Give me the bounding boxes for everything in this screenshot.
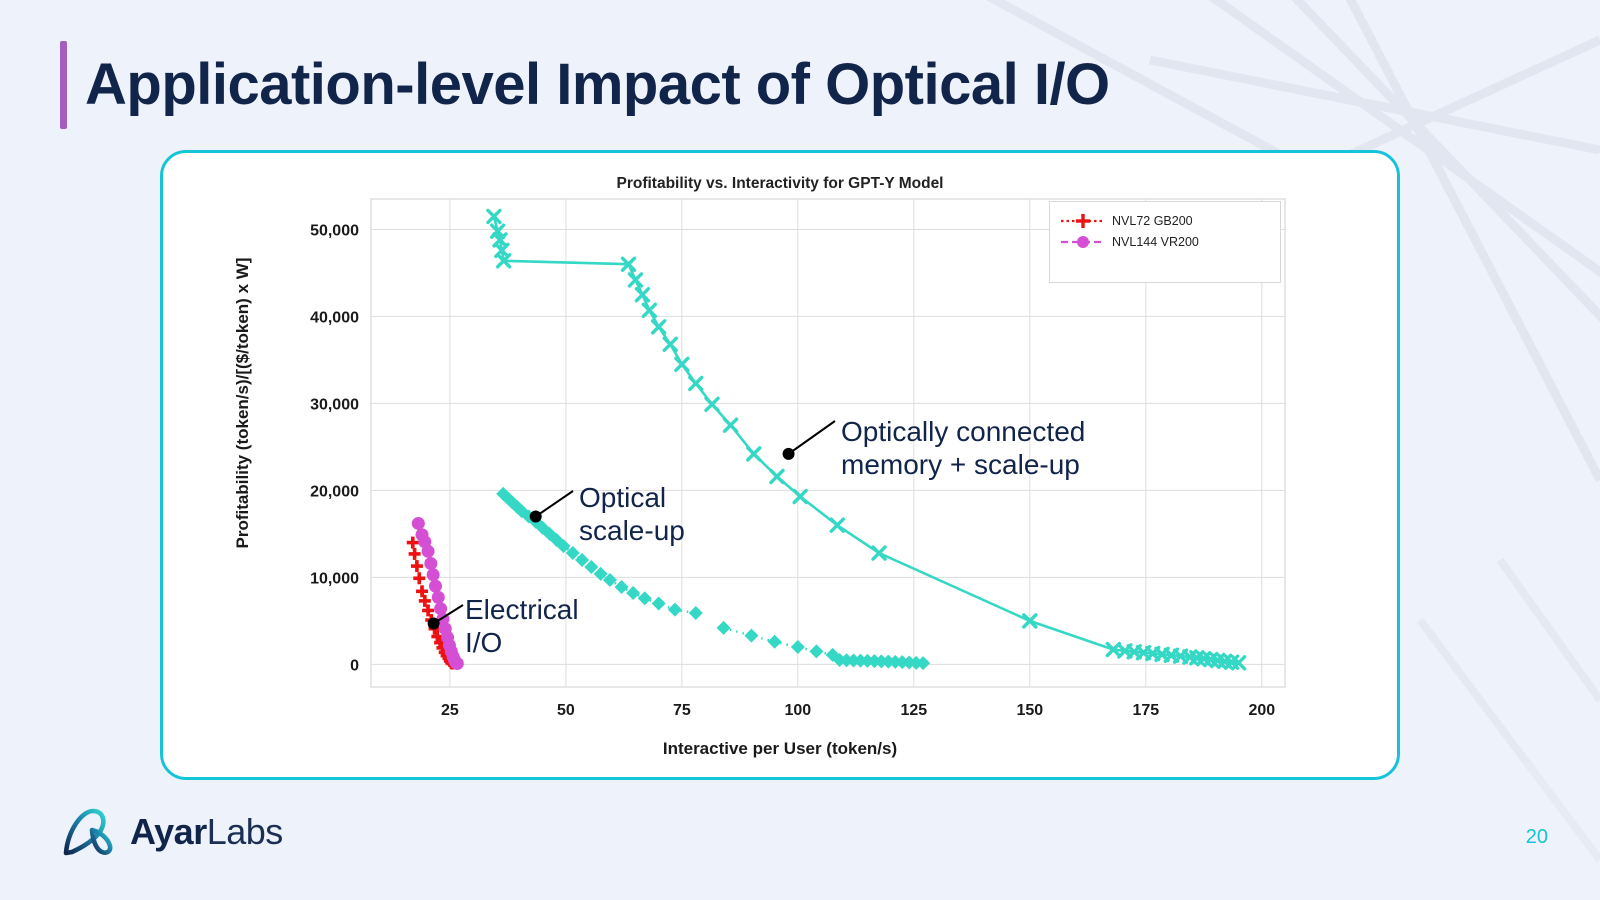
title-accent-bar [60, 41, 67, 129]
slide-header: Application-level Impact of Optical I/O [60, 40, 1110, 130]
chart-container: Profitability vs. Interactivity for GPT-… [163, 153, 1397, 777]
annotation-optically-connected: Optically connected memory + scale-up [841, 415, 1085, 481]
annotation-electrical-io: Electrical I/O [465, 593, 579, 659]
svg-text:50,000: 50,000 [310, 222, 359, 239]
brand-name-bold: Ayar [130, 811, 207, 852]
svg-text:150: 150 [1016, 702, 1043, 719]
legend-item[interactable]: NVL144 VR200 [1060, 231, 1270, 252]
svg-text:50: 50 [557, 702, 575, 719]
brand-name-light: Labs [207, 811, 283, 852]
svg-text:0: 0 [350, 657, 359, 674]
annotation-optical-scale-up: Optical scale-up [579, 481, 685, 547]
svg-text:125: 125 [900, 702, 927, 719]
svg-text:30,000: 30,000 [310, 396, 359, 413]
brand-logo: AyarLabs [62, 808, 283, 856]
chart-card: Profitability vs. Interactivity for GPT-… [160, 150, 1400, 780]
ayarlabs-wing-mark-icon [62, 808, 120, 856]
y-axis-label: Profitability (token/s)/[($/token) x W] [233, 193, 253, 613]
page-title: Application-level Impact of Optical I/O [85, 56, 1110, 114]
svg-text:25: 25 [441, 702, 459, 719]
legend-label: NVL144 VR200 [1112, 235, 1199, 249]
x-axis-label: Interactive per User (token/s) [163, 739, 1397, 759]
svg-text:10,000: 10,000 [310, 570, 359, 587]
legend-key-nvl72 [1060, 212, 1106, 230]
page-number: 20 [1526, 826, 1548, 849]
legend-key-nvl144 [1060, 233, 1106, 251]
svg-text:20,000: 20,000 [310, 483, 359, 500]
legend-item[interactable]: NVL72 GB200 [1060, 210, 1270, 231]
legend-label: NVL72 GB200 [1112, 214, 1193, 228]
brand-name: AyarLabs [130, 811, 283, 853]
svg-text:175: 175 [1132, 702, 1159, 719]
svg-text:40,000: 40,000 [310, 309, 359, 326]
svg-text:75: 75 [673, 702, 691, 719]
chart-legend: NVL72 GB200 NVL144 VR200 [1049, 201, 1281, 283]
svg-text:200: 200 [1248, 702, 1275, 719]
svg-text:100: 100 [784, 702, 811, 719]
